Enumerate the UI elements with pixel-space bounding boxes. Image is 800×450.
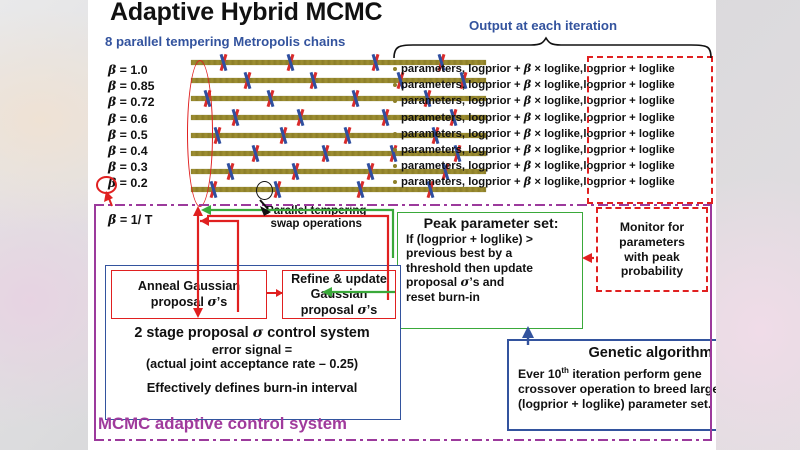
peak-parameter-set-box: Peak parameter set: If (logprior + logli… — [397, 212, 583, 329]
swap-marker-icon — [279, 127, 288, 144]
output-header: Output at each iteration — [469, 18, 617, 33]
swap-marker-icon — [219, 54, 228, 71]
swap-marker-icon — [321, 145, 330, 162]
row-tempered-logpost: logprior + β × loglike, — [468, 157, 580, 174]
peak-line-2: previous best by a — [406, 246, 512, 260]
control-system-description: 2 stage proposal σ control system error … — [106, 324, 398, 395]
swap-marker-icon — [273, 181, 282, 198]
row-tempered-logpost: logprior + β × loglike, — [468, 92, 580, 109]
row-tempered-logpost: logprior + β × loglike, — [468, 125, 580, 142]
mcmc-control-region-label: MCMC adaptive control system — [98, 414, 347, 434]
swap-marker-icon — [251, 145, 260, 162]
swap-marker-icon — [291, 163, 300, 180]
refine-line-3-post: ’s — [367, 303, 378, 317]
beta-item: β = 0.85 — [98, 78, 190, 94]
swap-marker-icon — [243, 72, 252, 89]
peak-box-body: If (logprior + loglike) > previous best … — [406, 232, 576, 304]
refine-line-1: Refine & update — [291, 272, 387, 286]
genetic-line-1-pre: Ever 10 — [518, 367, 561, 381]
beta-definition: β = 1/ T — [108, 212, 152, 227]
feedback-arrowhead-red-1 — [200, 216, 209, 226]
swap-annotation-label: Parallel tempering swap operations — [266, 204, 367, 230]
beta-item: β = 1.0 — [98, 62, 190, 78]
swap-highlight-circle — [256, 181, 273, 200]
genetic-box-body: Ever 10th iteration perform gene crossov… — [518, 363, 716, 412]
chain-bullet-icon — [393, 99, 397, 103]
tempering-ellipse-annotation — [187, 60, 213, 207]
genetic-line-2: crossover operation to breed larger — [518, 382, 716, 396]
proposal-control-system-box: Anneal Gaussian proposal σ’s Refine & up… — [105, 265, 401, 420]
row-parameters-label: parameters, — [401, 63, 468, 75]
row-tempered-logpost: logprior + β × loglike, — [468, 141, 580, 158]
monitor-box-text: Monitor for parameters with peak probabi… — [619, 220, 685, 278]
sigma-symbol: σ — [253, 324, 264, 341]
anneal-to-refine-arrow-icon — [267, 292, 282, 294]
beta-item: β = 0.4 — [98, 143, 190, 159]
swap-marker-icon — [371, 54, 380, 71]
refine-line-2: Gaussian — [311, 287, 368, 301]
subtitle-parallel-chains: 8 parallel tempering Metropolis chains — [105, 34, 345, 49]
anneal-line-1: Anneal Gaussian — [138, 279, 240, 293]
swap-marker-icon — [209, 181, 218, 198]
screenshot-root: Adaptive Hybrid MCMC 8 parallel temperin… — [0, 0, 800, 450]
error-signal-formula: (actual joint acceptance rate – 0.25) — [106, 357, 398, 371]
refine-line-3-pre: proposal — [301, 303, 358, 317]
peak-line-3: threshold then update — [406, 261, 533, 275]
chain-bullet-icon — [393, 180, 397, 184]
row-parameters-label: parameters, — [401, 160, 468, 172]
beta-item: β = 0.5 — [98, 127, 190, 143]
feedback-arrowhead-red-2 — [193, 206, 203, 216]
beta-highlight-circle — [96, 176, 117, 194]
error-signal-label: error signal = — [106, 343, 398, 357]
genetic-algorithm-box: Genetic algorithm Ever 10th iteration pe… — [507, 339, 716, 431]
swap-marker-icon — [266, 90, 275, 107]
peak-box-heading: Peak parameter set: — [406, 216, 576, 232]
monitor-to-peak-arrowhead-red — [582, 253, 592, 263]
refine-update-gaussian-box: Refine & update Gaussian proposal σ’s — [282, 270, 396, 319]
beta-value-list: β = 1.0 β = 0.85 β = 0.72 β = 0.6 β = 0.… — [98, 62, 190, 192]
swap-marker-icon — [213, 127, 222, 144]
swap-marker-icon — [356, 181, 365, 198]
swap-marker-icon — [296, 109, 305, 126]
swap-marker-icon — [226, 163, 235, 180]
control-title: 2 stage proposal σ control system — [106, 324, 398, 341]
monitor-line-1: Monitor for — [620, 220, 684, 234]
genetic-box-heading: Genetic algorithm — [518, 345, 716, 361]
peak-to-chain-arrowhead-green — [201, 205, 211, 215]
anneal-gaussian-proposal-box: Anneal Gaussian proposal σ’s — [111, 270, 267, 319]
swap-marker-icon — [343, 127, 352, 144]
row-parameters-label: parameters, — [401, 112, 468, 124]
row-parameters-label: parameters, — [401, 176, 468, 188]
row-tempered-logpost: logprior + β × loglike, — [468, 60, 580, 77]
swap-marker-icon — [351, 90, 360, 107]
peak-line-5: reset burn-in — [406, 290, 480, 304]
genetic-line-1-post: iteration perform gene — [569, 367, 702, 381]
peak-line-1: If (logprior + loglike) > — [406, 232, 533, 246]
control-title-post: control system — [263, 325, 369, 341]
anneal-line-2-pre: proposal — [151, 295, 208, 309]
chain-bullet-icon — [393, 164, 397, 168]
monitor-peak-probability-box: Monitor for parameters with peak probabi… — [596, 207, 708, 292]
row-parameters-label: parameters, — [401, 144, 468, 156]
monitor-line-2: parameters — [619, 235, 685, 249]
row-parameters-label: parameters, — [401, 95, 468, 107]
beta-item: β = 0.72 — [98, 94, 190, 110]
row-parameters-label: parameters, — [401, 128, 468, 140]
peak-line-4-pre: proposal — [406, 275, 460, 289]
genetic-line-3: (logprior + loglike) parameter set. — [518, 397, 711, 411]
beta-item: β = 0.6 — [98, 111, 190, 127]
swap-marker-icon — [231, 109, 240, 126]
swap-marker-icon — [381, 109, 390, 126]
chain-bullet-icon — [393, 148, 397, 152]
burn-in-note: Effectively defines burn-in interval — [106, 380, 398, 395]
beta-item: β = 0.3 — [98, 159, 190, 175]
row-tempered-logpost: logprior + β × loglike, — [468, 76, 580, 93]
sigma-symbol: σ — [357, 302, 366, 317]
swap-marker-icon — [286, 54, 295, 71]
row-parameters-label: parameters, — [401, 79, 468, 91]
swap-marker-icon — [309, 72, 318, 89]
page-title: Adaptive Hybrid MCMC — [110, 0, 382, 27]
genetic-line-1-sup: th — [561, 366, 569, 375]
chain-bullet-icon — [393, 132, 397, 136]
row-tempered-logpost: logprior + β × loglike, — [468, 173, 580, 190]
chain-bullet-icon — [393, 83, 397, 87]
anneal-line-2-post: ’s — [217, 295, 228, 309]
swap-annotation-line1: Parallel tempering — [266, 204, 367, 217]
slide-canvas: Adaptive Hybrid MCMC 8 parallel temperin… — [88, 0, 716, 450]
beta-ring-arrow-red — [108, 196, 112, 206]
control-title-pre: 2 stage proposal — [134, 325, 252, 341]
monitor-line-4: probability — [621, 264, 683, 278]
peak-line-4-post: ’s and — [469, 275, 504, 289]
row-tempered-logpost: logprior + β × loglike, — [468, 109, 580, 126]
monitor-line-3: with peak — [624, 250, 680, 264]
chain-bullet-icon — [393, 116, 397, 120]
sigma-symbol: σ — [207, 294, 216, 309]
output-highlight-dashed-box — [587, 56, 713, 204]
swap-marker-icon — [366, 163, 375, 180]
swap-annotation-line2: swap operations — [271, 217, 362, 230]
chain-bullet-icon — [393, 67, 397, 71]
